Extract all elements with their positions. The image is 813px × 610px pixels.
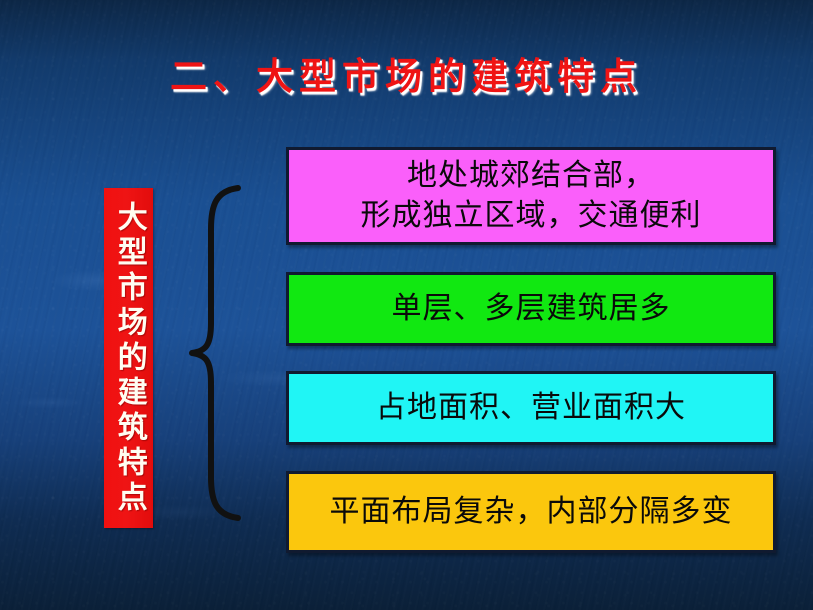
slide-title: 二、大型市场的建筑特点 [0,46,813,100]
feature-box-layout: 平面布局复杂，内部分隔多变 [286,471,776,553]
left-curly-brace-icon [186,183,246,523]
presentation-slide: 二、大型市场的建筑特点 大型市场的建筑特点 地处城郊结合部， 形成独立区域，交通… [0,0,813,610]
feature-box-storeys-line-1: 单层、多层建筑居多 [392,289,671,329]
feature-box-location: 地处城郊结合部， 形成独立区域，交通便利 [286,147,776,245]
vertical-banner-label: 大型市场的建筑特点 [109,201,147,516]
feature-box-area-line-1: 占地面积、营业面积大 [376,388,686,428]
feature-box-location-line-2: 形成独立区域，交通便利 [361,196,702,236]
feature-box-layout-line-1: 平面布局复杂，内部分隔多变 [330,492,733,532]
feature-box-storeys: 单层、多层建筑居多 [286,272,776,346]
vertical-red-banner: 大型市场的建筑特点 [104,188,153,528]
feature-box-area: 占地面积、营业面积大 [286,371,776,445]
feature-box-location-line-1: 地处城郊结合部， [361,156,702,196]
